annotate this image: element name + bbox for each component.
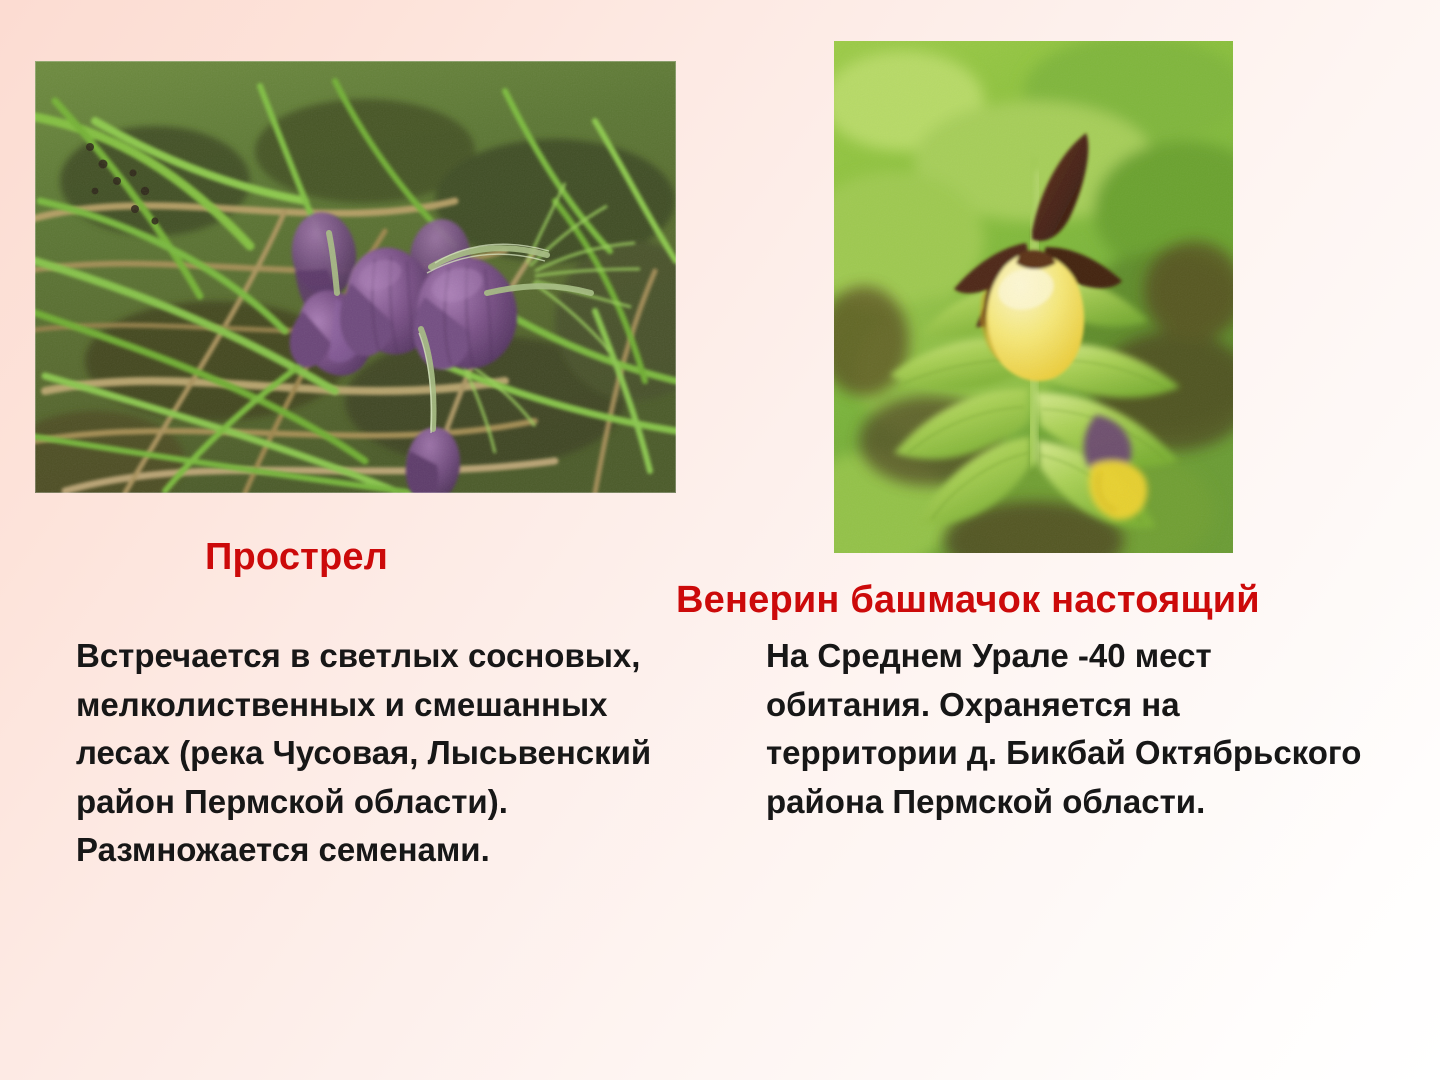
pasque-flower-illustration (35, 61, 676, 493)
ladys-slipper-orchid-title: Венерин башмачок настоящий (676, 578, 1260, 622)
ladys-slipper-orchid-description: На Среднем Урале -40 мест обитания. Охра… (766, 632, 1366, 826)
ladys-slipper-orchid-illustration (834, 41, 1233, 553)
pasque-flower-photo (35, 61, 676, 493)
pasque-flower-title: Прострел (205, 535, 388, 579)
slide-canvas: Прострел Встречается в светлых сосновых,… (0, 0, 1440, 1080)
pasque-flower-description: Встречается в светлых сосновых, мелколис… (76, 632, 676, 875)
ladys-slipper-orchid-photo (834, 41, 1233, 553)
